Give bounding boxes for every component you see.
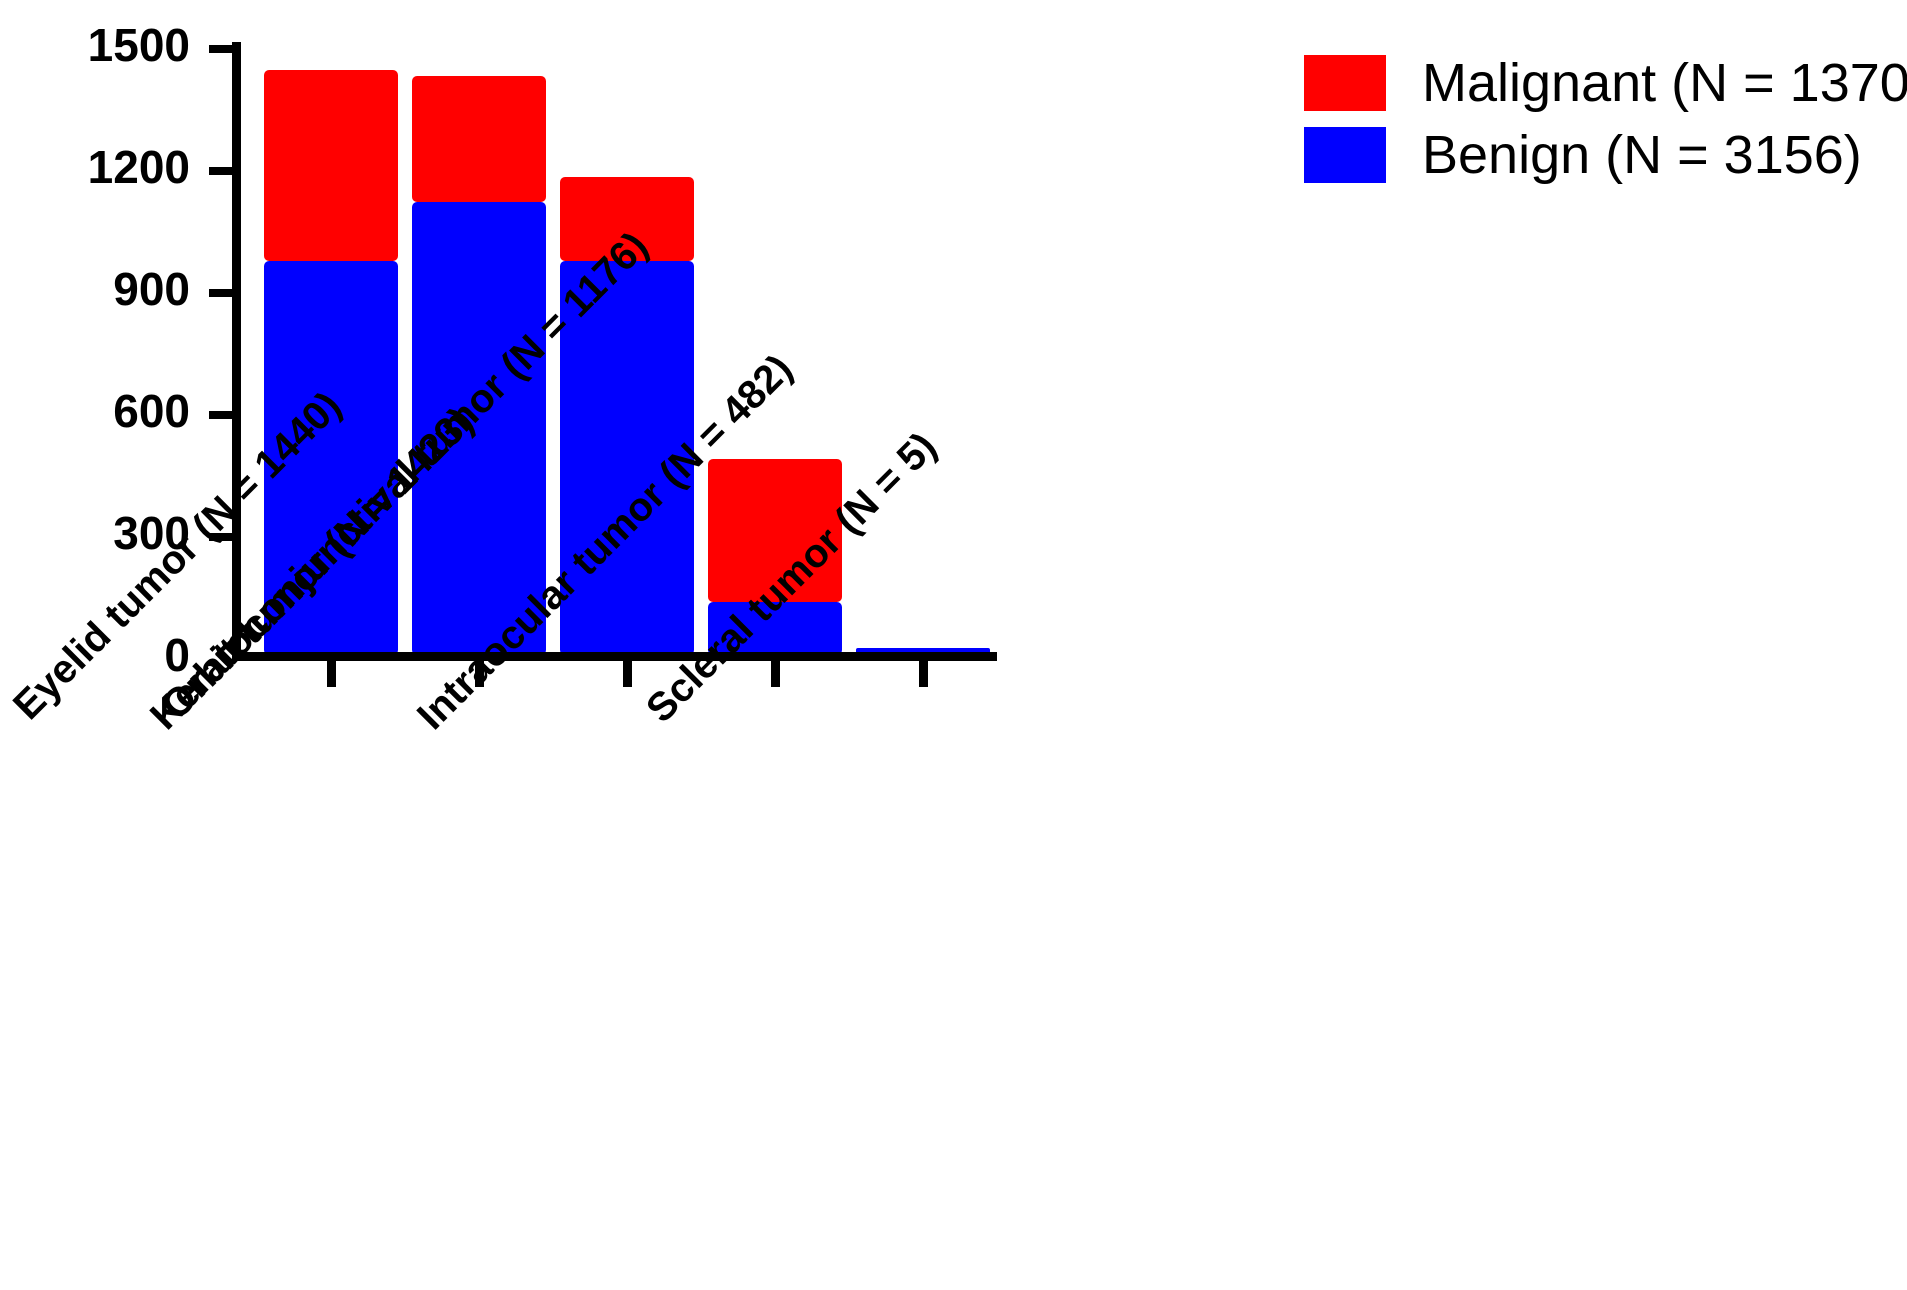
legend-swatch-benign-icon bbox=[1304, 127, 1386, 183]
legend-item-benign: Benign (N = 3156) bbox=[1304, 122, 1907, 188]
x-tick-intraocular bbox=[771, 661, 780, 687]
bar-segment-malignant-eyelid bbox=[264, 70, 398, 261]
y-tick-label-900: 900 bbox=[0, 266, 190, 312]
x-tick-scleral bbox=[919, 661, 928, 687]
legend-label-malignant: Malignant (N = 1370) bbox=[1422, 55, 1907, 111]
y-tick-label-600: 600 bbox=[0, 388, 190, 434]
stacked-bar-chart-figure: Count 1500 1200 900 600 300 0 bbox=[0, 0, 1907, 1290]
legend: Malignant (N = 1370) Benign (N = 3156) bbox=[1304, 50, 1907, 194]
x-tick-eyelid bbox=[327, 661, 336, 687]
legend-label-benign: Benign (N = 3156) bbox=[1422, 127, 1862, 183]
x-axis-line bbox=[232, 652, 997, 661]
bar-segment-malignant-orbit bbox=[412, 76, 546, 202]
legend-item-malignant: Malignant (N = 1370) bbox=[1304, 50, 1907, 116]
legend-swatch-malignant-icon bbox=[1304, 55, 1386, 111]
y-tick-label-1500: 1500 bbox=[0, 22, 190, 68]
y-axis-line bbox=[232, 42, 241, 661]
x-tick-keratoconjunctival bbox=[623, 661, 632, 687]
bar-group-scleral-tumor bbox=[856, 0, 990, 655]
y-tick-label-1200: 1200 bbox=[0, 144, 190, 190]
